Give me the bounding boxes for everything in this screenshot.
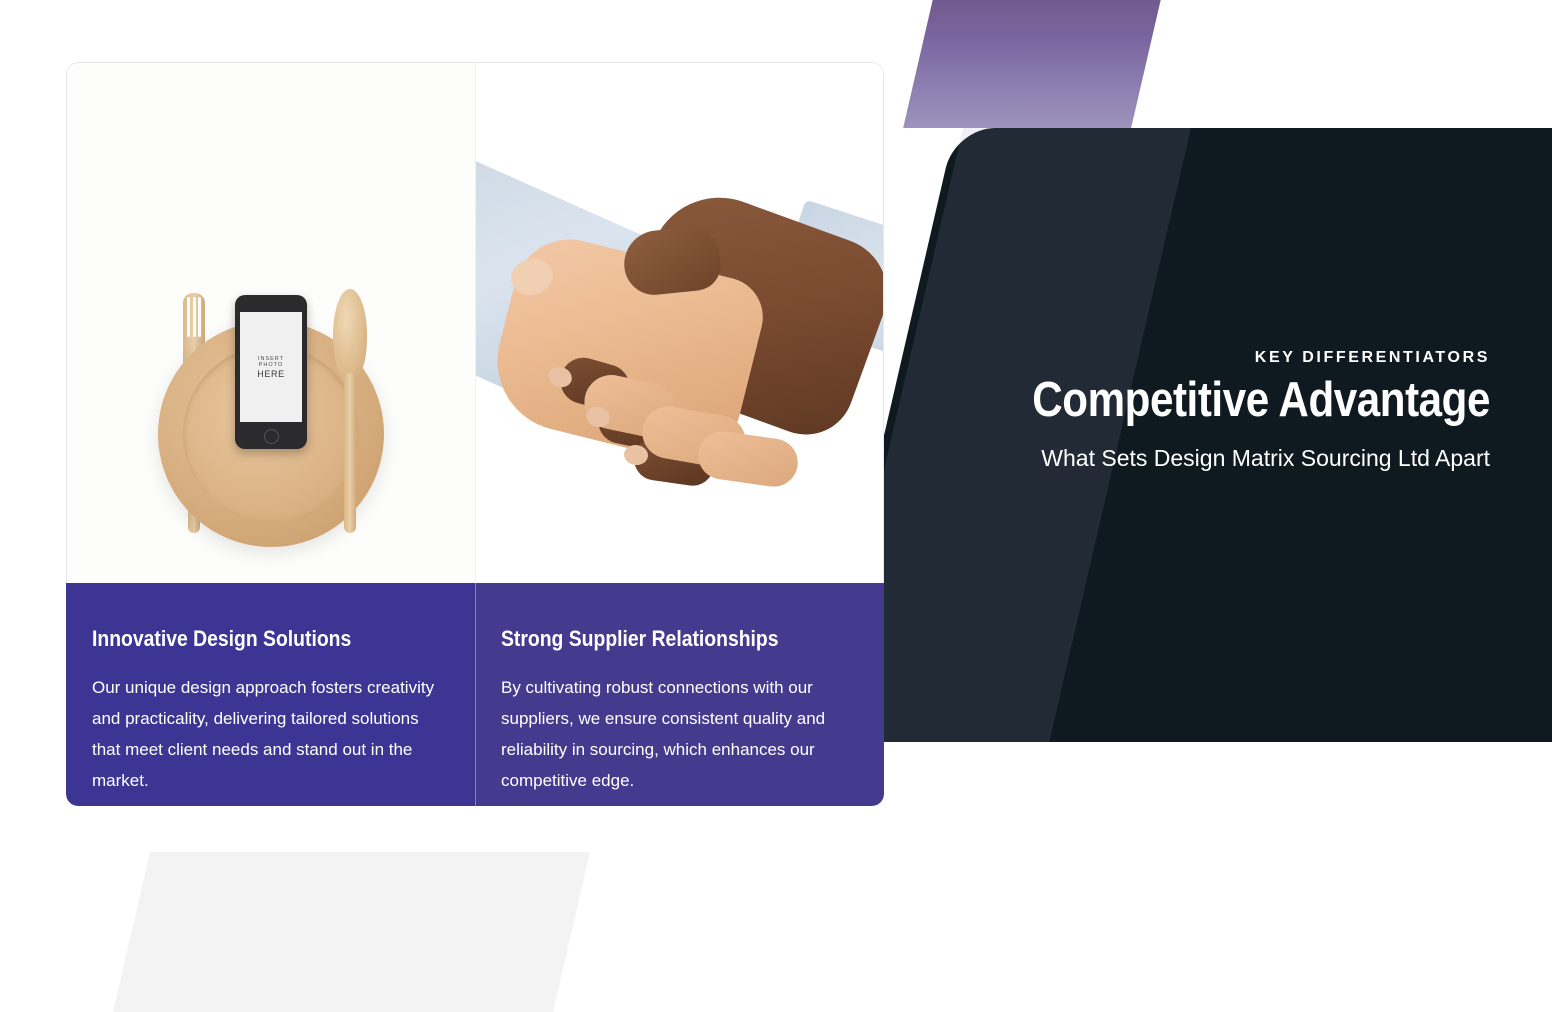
feature-card-innovative-design[interactable]: INSERT PHOTO HERE Innovative Design Solu… [66, 62, 475, 806]
handshake-illustration [476, 63, 883, 583]
phone-screen: INSERT PHOTO HERE [240, 312, 302, 422]
card-body-supplier-relationships: Strong Supplier Relationships By cultiva… [475, 583, 884, 806]
knuckle-light-3 [695, 428, 801, 489]
phone-text-line3: HERE [257, 369, 284, 379]
card-body-innovative-design: Innovative Design Solutions Our unique d… [66, 583, 475, 806]
card-title: Strong Supplier Relationships [501, 627, 815, 651]
phone-home-button-icon [264, 429, 279, 444]
plate-scene-illustration: INSERT PHOTO HERE [67, 63, 475, 583]
card-image-handshake [475, 62, 884, 583]
feature-card-supplier-relationships[interactable]: Strong Supplier Relationships By cultiva… [475, 62, 884, 806]
feature-card-group: INSERT PHOTO HERE Innovative Design Solu… [66, 62, 884, 806]
spoon-icon [333, 289, 367, 533]
page-subtitle: What Sets Design Matrix Sourcing Ltd Apa… [930, 441, 1490, 475]
page-title: Competitive Advantage [1008, 375, 1490, 426]
card-image-wooden-plate: INSERT PHOTO HERE [66, 62, 475, 583]
slide-heading-block: KEY DIFFERENTIATORS Competitive Advantag… [930, 348, 1490, 475]
purple-gradient-strip [903, 0, 1163, 128]
card-description: By cultivating robust connections with o… [501, 673, 858, 797]
phone-text-line2: PHOTO [259, 362, 283, 368]
eyebrow-label: KEY DIFFERENTIATORS [930, 348, 1490, 367]
card-title: Innovative Design Solutions [92, 627, 406, 651]
grey-parallelogram-shape [113, 852, 590, 1012]
phone-mockup: INSERT PHOTO HERE [235, 295, 307, 449]
card-description: Our unique design approach fosters creat… [92, 673, 449, 797]
